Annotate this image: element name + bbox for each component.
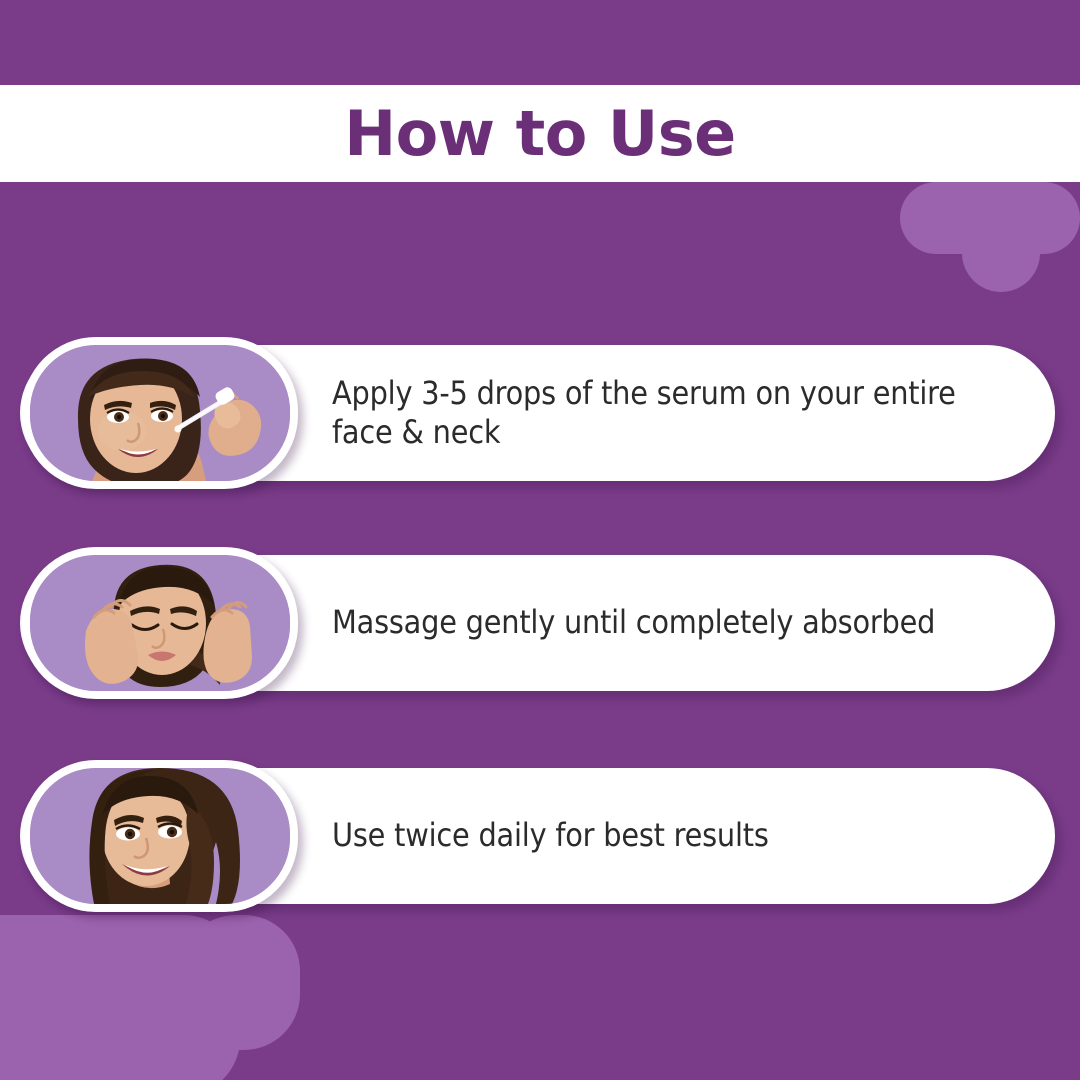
how-to-use-infographic: How to Use Apply 3-5 drops of the serum … <box>0 0 1080 1080</box>
step-thumbnail-inner <box>30 345 290 481</box>
photo-massage-face-icon <box>30 555 290 691</box>
step-text-line1: Use twice daily for best results <box>332 816 769 855</box>
step-thumbnail <box>22 547 298 699</box>
page-title: How to Use <box>344 103 735 165</box>
step-text: Apply 3-5 drops of the serum on your ent… <box>332 345 995 481</box>
decor-shape-bottom-left-right <box>180 915 300 1050</box>
photo-apply-serum-icon <box>30 345 290 481</box>
top-purple-band <box>0 0 1080 85</box>
step-text-line2: face & neck <box>332 413 956 452</box>
step-text-line1: Massage gently until completely absorbed <box>332 603 935 642</box>
step-thumbnail-inner <box>30 555 290 691</box>
step-thumbnail <box>22 337 298 489</box>
step-thumbnail-inner <box>30 768 290 904</box>
step-text: Massage gently until completely absorbed <box>332 555 995 691</box>
header-bar: How to Use <box>0 85 1080 182</box>
photo-smiling-result-icon <box>30 768 290 904</box>
decor-shape-top-right-vertical <box>962 182 1040 292</box>
step-text: Use twice daily for best results <box>332 768 995 904</box>
step-text-line1: Apply 3-5 drops of the serum on your ent… <box>332 374 956 413</box>
step-thumbnail <box>22 760 298 912</box>
